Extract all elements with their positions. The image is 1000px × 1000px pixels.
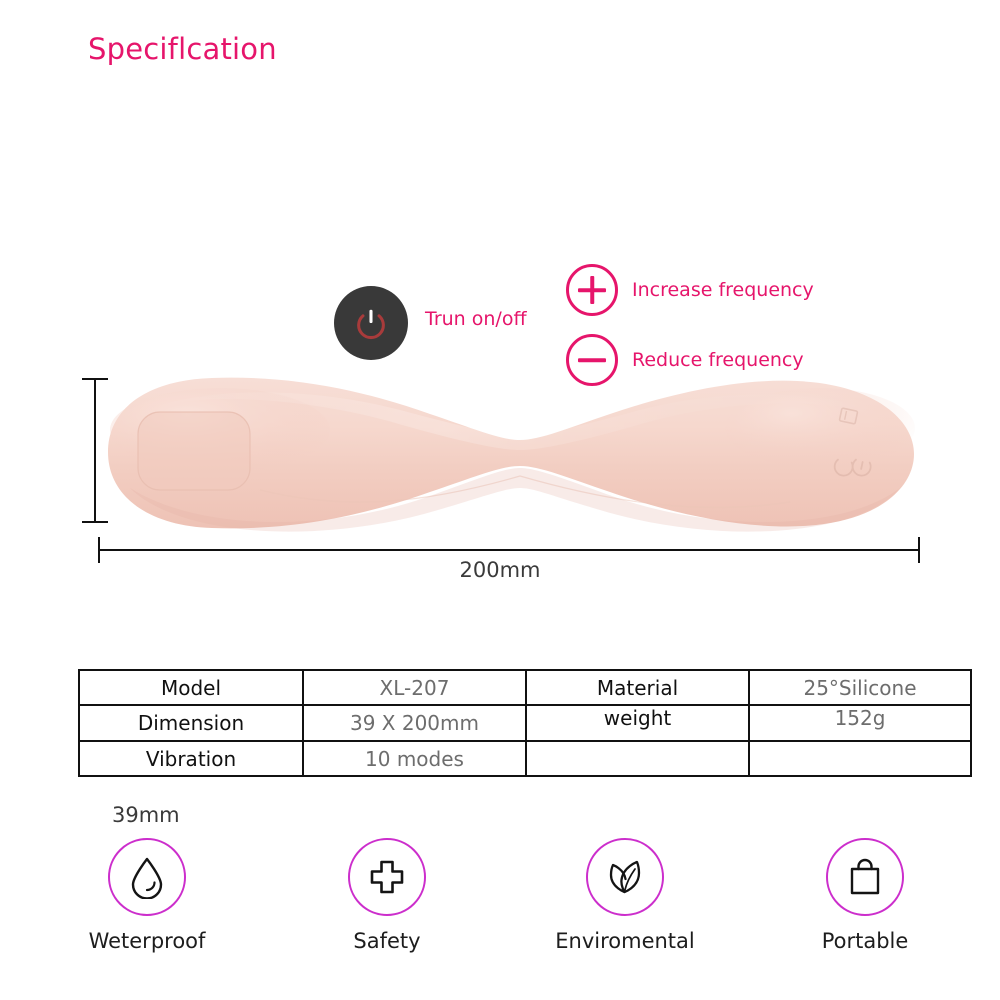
cell-empty-2: [749, 741, 971, 776]
product-silhouette: [100, 370, 920, 535]
feature-circle: [826, 838, 904, 916]
cell-dimension-value: 39 X 200mm: [303, 705, 526, 741]
feature-circle: [586, 838, 664, 916]
length-dimension-label: 200mm: [0, 558, 1000, 582]
cell-material-value: 25°Silicone: [749, 670, 971, 705]
cross-plus-icon: [366, 856, 408, 898]
vertical-dimension-cap-bottom: [82, 521, 108, 523]
water-drop-icon: [127, 855, 167, 899]
cell-weight-label: weight: [526, 705, 749, 741]
feature-label: Portable: [765, 929, 965, 953]
table-row: Dimension 39 X 200mm weight 152g: [79, 705, 971, 741]
height-dimension-label: 39mm: [112, 803, 180, 827]
cell-vibration-label: Vibration: [79, 741, 303, 776]
feature-circle: [348, 838, 426, 916]
feature-portable[interactable]: Portable: [765, 838, 965, 953]
feature-waterproof[interactable]: Weterproof: [47, 838, 247, 953]
cell-dimension-label: Dimension: [79, 705, 303, 741]
cell-model-value: XL-207: [303, 670, 526, 705]
power-label: Trun on/off: [425, 308, 527, 330]
vertical-dimension-cap-top: [82, 378, 108, 380]
feature-environmental[interactable]: Enviromental: [525, 838, 725, 953]
increase-frequency-label: Increase frequency: [632, 279, 814, 301]
vertical-dimension-line: [94, 378, 96, 523]
product-image: [100, 370, 920, 535]
power-icon: [352, 304, 390, 342]
horizontal-dimension-line: [98, 549, 920, 551]
cell-material-label: Material: [526, 670, 749, 705]
product-figure: 39mm: [0, 360, 1000, 590]
power-button[interactable]: [334, 286, 408, 360]
plus-vertical-bar: [590, 276, 594, 304]
feature-label: Weterproof: [47, 929, 247, 953]
controls-legend: Trun on/off Increase frequency Reduce fr…: [0, 128, 1000, 278]
page-title: Speciflcation: [88, 32, 277, 66]
leaves-icon: [603, 855, 647, 899]
specification-table: Model XL-207 Material 25°Silicone Dimens…: [78, 669, 972, 777]
feature-label: Safety: [287, 929, 487, 953]
cell-vibration-value: 10 modes: [303, 741, 526, 776]
feature-list: Weterproof Safety Enviromental Portable: [0, 838, 1000, 978]
shopping-bag-icon: [845, 855, 885, 899]
feature-label: Enviromental: [525, 929, 725, 953]
table-row: Vibration 10 modes: [79, 741, 971, 776]
plus-circle-icon: [566, 264, 618, 316]
feature-circle: [108, 838, 186, 916]
cell-empty-1: [526, 741, 749, 776]
cell-model-label: Model: [79, 670, 303, 705]
cell-weight-value: 152g: [749, 705, 971, 741]
increase-frequency-item[interactable]: Increase frequency: [566, 264, 814, 316]
table-row: Model XL-207 Material 25°Silicone: [79, 670, 971, 705]
feature-safety[interactable]: Safety: [287, 838, 487, 953]
